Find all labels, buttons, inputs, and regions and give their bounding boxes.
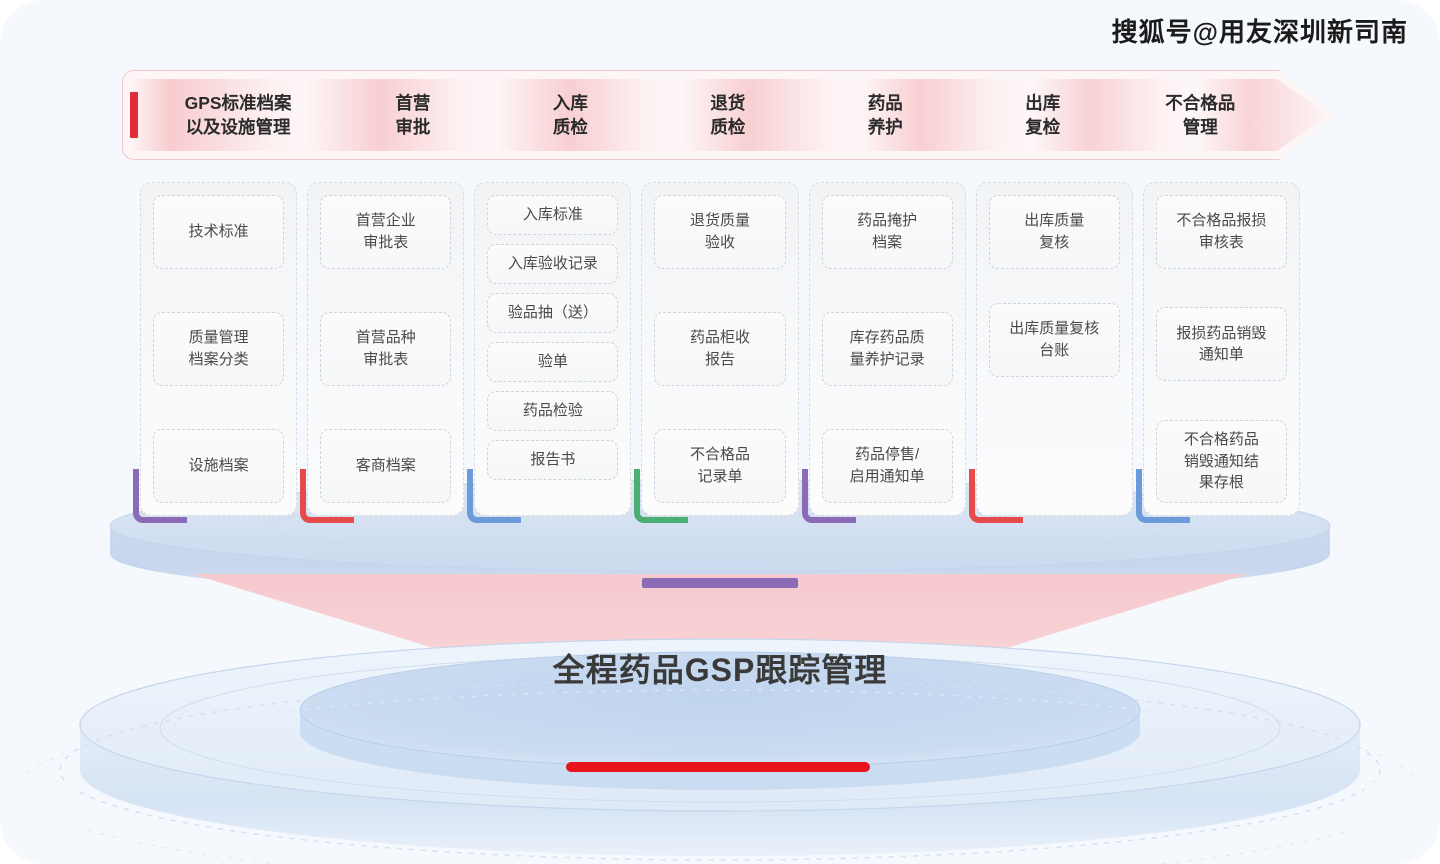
process-flow-banner: GPS标准档案 以及设施管理 首营 审批 入库 质检 退货 质检 药品 养护 出… <box>122 70 1337 160</box>
module-column-7: 不合格品报损 审核表报损药品销毁 通知单不合格药品 销毁通知结 果存根 <box>1143 182 1300 516</box>
banner-step-3[interactable]: 退货 质检 <box>649 91 806 139</box>
column-accent-corner-blue <box>467 469 521 523</box>
module-column-1: 技术标准质量管理 档案分类设施档案 <box>140 182 297 516</box>
module-card[interactable]: 不合格品报损 审核表 <box>1156 195 1287 269</box>
banner-step-6[interactable]: 不合格品 管理 <box>1122 91 1279 139</box>
module-column-group: 技术标准质量管理 档案分类设施档案首营企业 审批表首营品种 审批表客商档案入库标… <box>140 182 1300 516</box>
module-column-4: 退货质量 验收药品柜收 报告不合格品 记录单 <box>641 182 798 516</box>
module-column-6: 出库质量 复核出库质量复核 台账 <box>976 182 1133 516</box>
column-accent-corner-purple <box>133 469 187 523</box>
column-accent-corner-purple <box>802 469 856 523</box>
module-card[interactable]: 首营品种 审批表 <box>320 312 451 386</box>
watermark-text: 搜狐号@用友深圳新司南 <box>1112 12 1408 49</box>
banner-step-2[interactable]: 入库 质检 <box>492 91 649 139</box>
module-card[interactable]: 首营企业 审批表 <box>320 195 451 269</box>
banner-step-1[interactable]: 首营 审批 <box>334 91 491 139</box>
corner-mask-top-left <box>0 0 44 44</box>
module-card[interactable]: 报损药品销毁 通知单 <box>1156 307 1287 381</box>
banner-step-4[interactable]: 药品 养护 <box>807 91 964 139</box>
module-card[interactable]: 入库标准 <box>487 195 618 235</box>
module-card[interactable]: 药品检验 <box>487 391 618 431</box>
column-accent-corner-red <box>300 469 354 523</box>
module-card[interactable]: 验品抽（送） <box>487 293 618 333</box>
module-card[interactable]: 退货质量 验收 <box>654 195 785 269</box>
column-accent-corner-red <box>969 469 1023 523</box>
module-card[interactable]: 验单 <box>487 342 618 382</box>
module-card[interactable]: 库存药品质 量养护记录 <box>822 312 953 386</box>
banner-step-list: GPS标准档案 以及设施管理 首营 审批 入库 质检 退货 质检 药品 养护 出… <box>122 70 1337 160</box>
module-card[interactable]: 技术标准 <box>153 195 284 269</box>
platform-title: 全程药品GSP跟踪管理 <box>0 645 1440 691</box>
column-accent-corner-green <box>634 469 688 523</box>
column-accent-corner-blue <box>1136 469 1190 523</box>
module-card[interactable]: 质量管理 档案分类 <box>153 312 284 386</box>
diagram-canvas: GPS标准档案 以及设施管理 首营 审批 入库 质检 退货 质检 药品 养护 出… <box>0 0 1440 864</box>
module-card[interactable]: 药品掩护 档案 <box>822 195 953 269</box>
module-column-3: 入库标准入库验收记录验品抽（送）验单药品检验报告书 <box>474 182 631 516</box>
module-card[interactable]: 出库质量 复核 <box>989 195 1120 269</box>
banner-step-0[interactable]: GPS标准档案 以及设施管理 <box>142 91 334 139</box>
module-card[interactable]: 出库质量复核 台账 <box>989 303 1120 377</box>
module-card[interactable]: 药品柜收 报告 <box>654 312 785 386</box>
module-card[interactable]: 入库验收记录 <box>487 244 618 284</box>
module-column-5: 药品掩护 档案库存药品质 量养护记录药品停售/ 启用通知单 <box>809 182 966 516</box>
module-column-2: 首营企业 审批表首营品种 审批表客商档案 <box>307 182 464 516</box>
banner-step-5[interactable]: 出库 复检 <box>964 91 1121 139</box>
